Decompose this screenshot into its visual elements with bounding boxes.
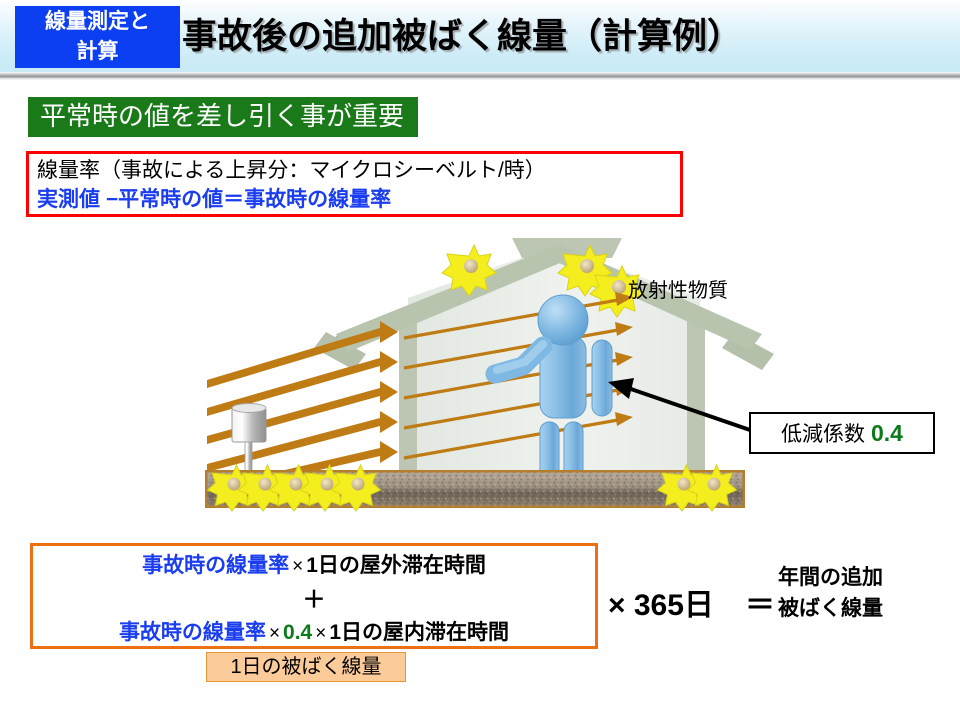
page-title: 事故後の追加被ばく線量（計算例）: [182, 8, 742, 59]
formula-indoor-term1: 事故時の線量率: [119, 621, 266, 644]
formula-outdoor-term1: 事故時の線量率: [142, 554, 289, 577]
result-line1: 年間の追加: [778, 562, 883, 593]
radioactive-material-label: 放射性物質: [628, 274, 728, 303]
reduction-coefficient-value: 0.4: [871, 420, 903, 447]
annual-additional-dose-label: 年間の追加 被ばく線量: [778, 562, 883, 624]
formula-indoor-term2: 1日の屋内滞在時間: [329, 621, 509, 644]
dose-rate-definition-box: 線量率（事故による上昇分：マイクロシーベルト/時） 実測値 −平常時の値＝事故時…: [26, 151, 683, 217]
formula-line-indoor: 事故時の線量率×0.4×1日の屋内滞在時間: [33, 616, 595, 650]
dose-rate-equation-line2: 実測値 −平常時の値＝事故時の線量率: [37, 185, 680, 215]
reduction-coefficient-callout: 低減係数 0.4: [749, 412, 935, 454]
house-exposure-illustration: [0, 236, 960, 526]
header-badge-line1: 線量測定と: [45, 7, 150, 37]
daily-dose-label: 1日の被ばく線量: [206, 652, 406, 682]
header-divider-rule: [0, 72, 960, 80]
dose-rate-definition-line1: 線量率（事故による上昇分：マイクロシーベルト/時）: [37, 156, 680, 185]
header-category-badge: 線量測定と 計算: [15, 6, 180, 68]
annual-dose-formula-box: 事故時の線量率×1日の屋外滞在時間 ＋ 事故時の線量率×0.4×1日の屋内滞在時…: [30, 543, 598, 649]
header-badge-line2: 計算: [77, 37, 119, 67]
key-point-banner: 平常時の値を差し引く事が重要: [28, 97, 418, 137]
formula-indoor-op2: ×: [312, 623, 329, 644]
formula-indoor-op1: ×: [266, 623, 283, 644]
formula-plus-sign: ＋: [33, 583, 595, 616]
formula-outdoor-term2: 1日の屋外滞在時間: [306, 554, 486, 577]
formula-indoor-coefficient: 0.4: [283, 621, 312, 644]
formula-outdoor-op1: ×: [289, 556, 306, 577]
reduction-coefficient-label: 低減係数: [781, 418, 865, 448]
formula-line-outdoor: 事故時の線量率×1日の屋外滞在時間: [33, 549, 595, 583]
annual-multiplier: × 365日: [608, 580, 714, 624]
equals-sign: ＝: [745, 580, 775, 624]
result-line2: 被ばく線量: [778, 593, 883, 624]
